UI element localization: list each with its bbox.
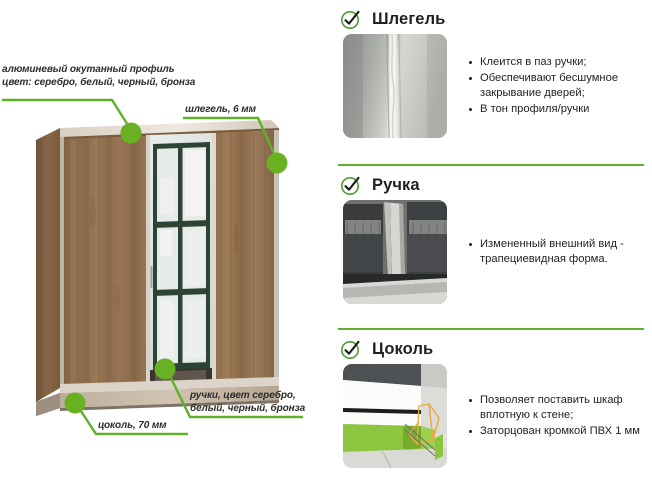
callout-handles-line1: ручки, цвет серебро, xyxy=(190,390,305,403)
handle-photo xyxy=(343,200,447,304)
list-item: Измененный внешний вид - трапециевидная … xyxy=(469,237,646,268)
callout-shlegel-line1: шлегель, 6 мм xyxy=(185,104,256,117)
list-item: Обеспечивают бесшумное закрывание дверей… xyxy=(469,71,646,102)
plinth-photo xyxy=(343,364,447,468)
frame-left-edge xyxy=(60,137,64,387)
feature-handle-body: Измененный внешний вид - трапециевидная … xyxy=(330,200,652,304)
callout-profile-line2: цвет: серебро, белый, черный, бронза xyxy=(2,77,195,90)
handle-profile-left xyxy=(146,135,150,384)
list-item: В тон профиля/ручки xyxy=(469,102,646,118)
check-circle-icon xyxy=(340,174,362,196)
callout-profile-line1: алюминевый окутанный профиль xyxy=(2,64,195,77)
callout-handles: ручки, цвет серебро, белый, черный, брон… xyxy=(190,390,305,415)
feature-plinth-body: Позволяет поставить шкаф вплотную к стен… xyxy=(330,364,652,468)
frame-right-edge xyxy=(274,130,279,378)
features-panel: Шлегель xyxy=(330,0,652,500)
feature-shlegel-header: Шлегель xyxy=(330,0,652,34)
check-circle-icon xyxy=(340,8,362,30)
wardrobe-illustration xyxy=(36,118,284,418)
wardrobe-svg xyxy=(36,118,284,418)
feature-handle-title: Ручка xyxy=(372,176,420,195)
feature-handle-header: Ручка xyxy=(330,166,652,200)
feature-card-shlegel: Шлегель xyxy=(330,0,652,164)
feature-plinth-header: Цоколь xyxy=(330,330,652,364)
mirror-reflection xyxy=(149,142,212,383)
feature-card-handle: Ручка xyxy=(330,166,652,328)
feature-plinth-bullets: Позволяет поставить шкаф вплотную к стен… xyxy=(447,393,646,440)
feature-handle-bullets: Измененный внешний вид - трапециевидная … xyxy=(447,237,646,268)
handle-profile-right xyxy=(212,133,216,381)
callout-plinth-line1: цоколь, 70 мм xyxy=(98,420,166,433)
feature-shlegel-bullets: Клеится в паз ручки; Обеспечивают бесшум… xyxy=(447,55,646,117)
feature-card-plinth: Цоколь xyxy=(330,330,652,500)
list-item: Заторцован кромкой ПВХ 1 мм xyxy=(469,424,646,440)
check-circle-icon xyxy=(340,338,362,360)
callout-profile: алюминевый окутанный профиль цвет: сереб… xyxy=(2,64,195,89)
feature-shlegel-body: Клеится в паз ручки; Обеспечивают бесшум… xyxy=(330,34,652,138)
shlegel-photo xyxy=(343,34,447,138)
list-item: Позволяет поставить шкаф вплотную к стен… xyxy=(469,393,646,424)
mirror-door-handle xyxy=(151,266,153,288)
feature-shlegel-title: Шлегель xyxy=(372,10,445,29)
callout-shlegel: шлегель, 6 мм xyxy=(185,104,256,117)
list-item: Клеится в паз ручки; xyxy=(469,55,646,71)
feature-plinth-title: Цоколь xyxy=(372,340,433,359)
callout-plinth: цоколь, 70 мм xyxy=(98,420,166,433)
product-illustration-panel: алюминевый окутанный профиль цвет: сереб… xyxy=(0,0,330,500)
callout-handles-line2: белый, черный, бронза xyxy=(190,403,305,416)
